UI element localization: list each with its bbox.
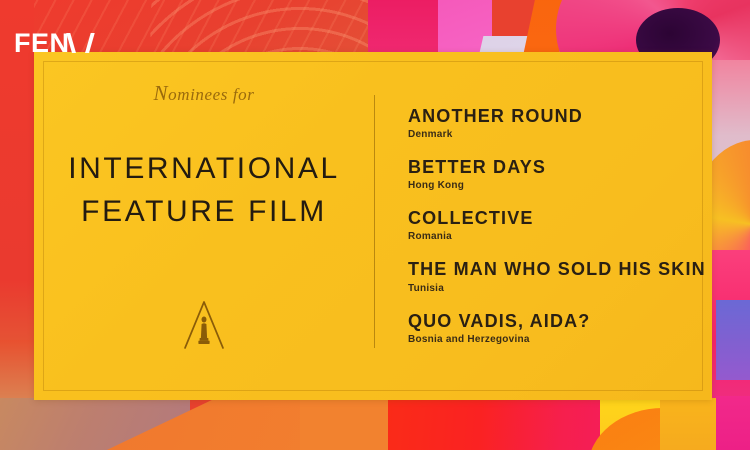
category-pane: Nominees for INTERNATIONAL FEATURE FILM <box>34 52 374 400</box>
bg-magenta-wedge <box>368 0 438 60</box>
nominee-title: ANOTHER ROUND <box>408 106 712 126</box>
list-item: THE MAN WHO SOLD HIS SKIN Tunisia <box>408 259 712 293</box>
nominee-country: Bosnia and Herzegovina <box>408 334 712 345</box>
fena-logo: FEN <box>14 29 90 57</box>
nominees-for-rest: ominees for <box>168 85 254 104</box>
nominee-country: Hong Kong <box>408 180 712 191</box>
nominees-list: ANOTHER ROUND Denmark BETTER DAYS Hong K… <box>374 52 712 400</box>
bg-right-blue-field <box>716 300 750 380</box>
nominees-card: Nominees for INTERNATIONAL FEATURE FILM <box>34 52 712 400</box>
bg-bottom-red <box>388 400 618 450</box>
list-item: QUO VADIS, AIDA? Bosnia and Herzegovina <box>408 311 712 345</box>
bg-bottom-orange-2 <box>300 398 390 450</box>
fena-logo-text: FEN <box>14 30 70 57</box>
nominee-title: QUO VADIS, AIDA? <box>408 311 712 331</box>
nominee-title: THE MAN WHO SOLD HIS SKIN <box>408 259 712 279</box>
nominee-country: Romania <box>408 231 712 242</box>
broadcast-frame: FEN Nominees for INTERNATIONAL FEATURE F… <box>0 0 750 450</box>
nominees-for-initial: N <box>153 81 168 105</box>
fena-triangle-a-icon <box>71 33 90 53</box>
list-item: BETTER DAYS Hong Kong <box>408 157 712 191</box>
list-item: ANOTHER ROUND Denmark <box>408 106 712 140</box>
nominee-country: Tunisia <box>408 283 712 294</box>
category-title: INTERNATIONAL FEATURE FILM <box>68 148 340 233</box>
nominee-title: BETTER DAYS <box>408 157 712 177</box>
nominee-title: COLLECTIVE <box>408 208 712 228</box>
list-item: COLLECTIVE Romania <box>408 208 712 242</box>
nominees-for-label: Nominees for <box>153 83 254 104</box>
oscar-statuette-icon <box>182 300 226 350</box>
nominee-country: Denmark <box>408 129 712 140</box>
bg-bottom-pink-corner <box>716 396 750 450</box>
